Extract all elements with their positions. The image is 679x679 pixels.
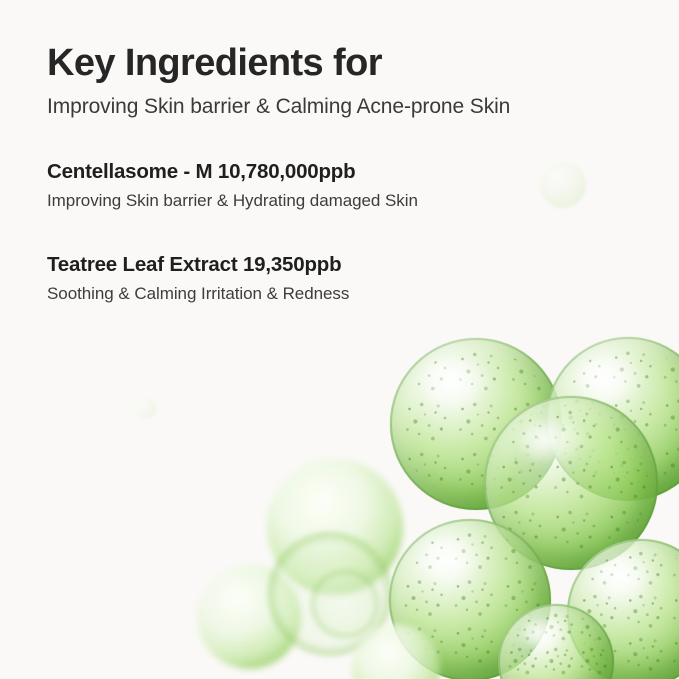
sphere-lower-left	[389, 519, 551, 679]
specular-highlight	[519, 419, 589, 468]
sphere-upper-right	[546, 337, 679, 501]
page-subtitle: Improving Skin barrier & Calming Acne-pr…	[47, 93, 607, 120]
blur-bubble-mid-left	[267, 459, 403, 595]
page-title: Key Ingredients for	[47, 42, 607, 85]
air-bubbles-texture	[400, 348, 551, 499]
ring-bubble-small	[311, 570, 379, 638]
sphere-lower-right	[567, 539, 679, 679]
air-bubbles-texture	[505, 611, 607, 679]
ingredient-name: Teatree Leaf Extract 19,350ppb	[47, 252, 607, 278]
air-bubbles-texture	[399, 529, 542, 672]
sphere-bottom-center	[498, 604, 614, 679]
specular-highlight	[579, 358, 645, 404]
sphere-center	[484, 396, 658, 570]
specular-highlight	[597, 558, 656, 599]
sphere-upper-left	[390, 338, 562, 510]
specular-highlight	[424, 360, 493, 408]
ingredient-item: Centellasome - M 10,780,000ppb Improving…	[47, 159, 607, 213]
air-bubbles-texture	[494, 406, 647, 559]
ingredient-item: Teatree Leaf Extract 19,350ppb Soothing …	[47, 252, 607, 306]
blur-bubble-far-left	[197, 565, 301, 669]
air-bubbles-texture	[556, 347, 679, 491]
ingredient-description: Soothing & Calming Irritation & Redness	[47, 283, 607, 305]
ingredient-description: Improving Skin barrier & Hydrating damag…	[47, 190, 607, 212]
specular-highlight	[521, 619, 567, 651]
ingredient-name: Centellasome - M 10,780,000ppb	[47, 159, 607, 185]
sphere-bottom-edge	[352, 624, 440, 679]
ingredient-list: Centellasome - M 10,780,000ppb Improving…	[47, 159, 607, 305]
text-content: Key Ingredients for Improving Skin barri…	[47, 42, 607, 305]
ring-bubble-large	[268, 532, 392, 656]
specular-highlight	[421, 540, 486, 585]
key-ingredients-poster: Key Ingredients for Improving Skin barri…	[0, 0, 679, 679]
mini-bubble-left	[134, 397, 156, 419]
air-bubbles-texture	[576, 548, 679, 678]
